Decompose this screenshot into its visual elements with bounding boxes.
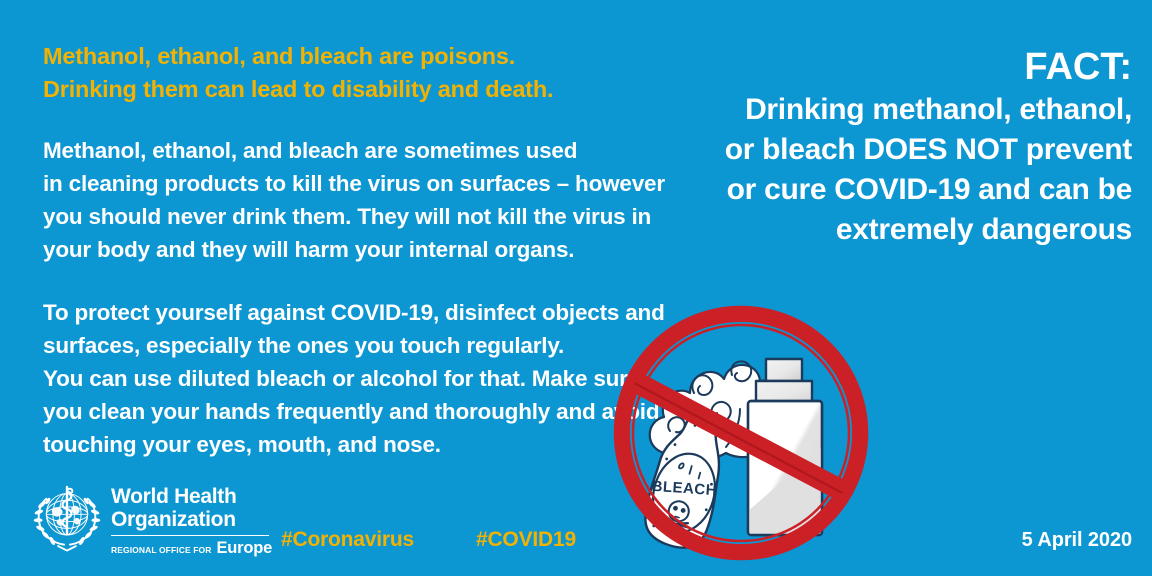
body1-line-1: Methanol, ethanol, and bleach are someti…: [43, 134, 643, 167]
body2-line-3: You can use diluted bleach or alcohol fo…: [43, 362, 643, 395]
who-region-name: Europe: [216, 539, 272, 558]
who-region-row: REGIONAL OFFICE FOR Europe: [111, 539, 272, 558]
fact-line-1: Drinking methanol, ethanol,: [702, 90, 1132, 130]
body2-line-1: To protect yourself against COVID-19, di…: [43, 296, 643, 329]
body1-line-4: your body and they will harm your intern…: [43, 233, 643, 266]
who-logo-text: World Health Organization REGIONAL OFFIC…: [111, 481, 272, 559]
body2-line-4: you clean your hands frequently and thor…: [43, 395, 643, 428]
lead-line-1: Methanol, ethanol, and bleach are poison…: [43, 40, 643, 73]
fact-line-4: extremely dangerous: [702, 210, 1132, 250]
who-logo: World Health Organization REGIONAL OFFIC…: [30, 481, 272, 559]
hashtag-row: #Coronavirus #COVID19: [281, 528, 576, 552]
body1-line-3: you should never drink them. They will n…: [43, 200, 643, 233]
fact-line-3: or cure COVID-19 and can be: [702, 170, 1132, 210]
lead-paragraph: Methanol, ethanol, and bleach are poison…: [43, 40, 643, 106]
fact-column: FACT: Drinking methanol, ethanol, or ble…: [702, 46, 1132, 250]
fact-statement: Drinking methanol, ethanol, or bleach DO…: [702, 90, 1132, 250]
publication-date: 5 April 2020: [1022, 529, 1132, 552]
hashtag-coronavirus[interactable]: #Coronavirus: [281, 528, 414, 552]
hashtag-covid19[interactable]: #COVID19: [476, 528, 576, 552]
who-logo-divider: [111, 535, 269, 537]
fact-line-2: or bleach DOES NOT prevent: [702, 130, 1132, 170]
body-paragraph-1: Methanol, ethanol, and bleach are someti…: [43, 134, 643, 266]
body1-line-2: in cleaning products to kill the virus o…: [43, 167, 643, 200]
who-emblem-icon: [30, 481, 104, 555]
who-org-line-2: Organization: [111, 508, 272, 531]
lead-line-2: Drinking them can lead to disability and…: [43, 73, 643, 106]
who-org-line-1: World Health: [111, 485, 272, 508]
who-covid19-myth-buster-poster: Methanol, ethanol, and bleach are poison…: [0, 0, 1152, 576]
body2-line-5: touching your eyes, mouth, and nose.: [43, 428, 643, 461]
body-paragraph-2: To protect yourself against COVID-19, di…: [43, 296, 643, 461]
who-region-prefix: REGIONAL OFFICE FOR: [111, 545, 211, 555]
no-drinking-bleach-illustration: BLEACH: [608, 297, 878, 573]
fact-heading: FACT:: [702, 46, 1132, 88]
left-text-column: Methanol, ethanol, and bleach are poison…: [43, 40, 643, 461]
body2-line-2: surfaces, especially the ones you touch …: [43, 329, 643, 362]
